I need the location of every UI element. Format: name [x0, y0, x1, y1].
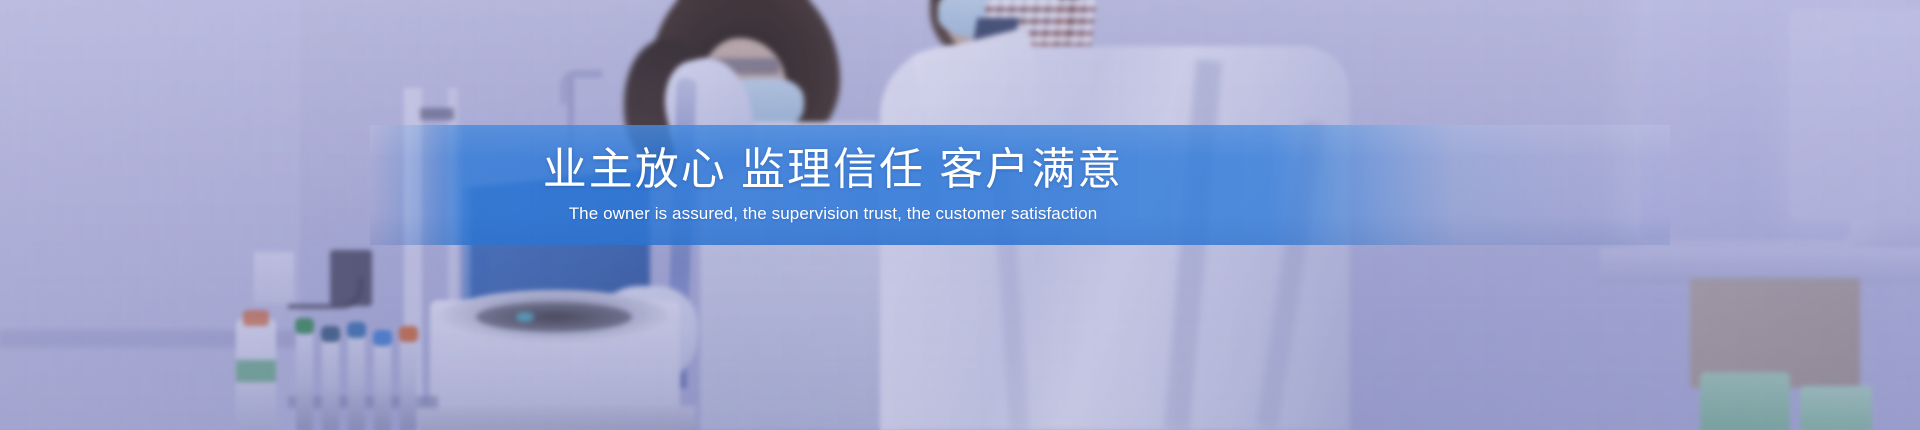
test-tube: [348, 326, 365, 430]
equipment-label: [420, 108, 454, 120]
reagent-bottle-cap: [243, 310, 269, 326]
bench-surface: [418, 406, 696, 430]
test-tube-cap: [295, 318, 314, 334]
test-tube-cap: [399, 326, 418, 342]
test-tube: [322, 330, 339, 430]
test-tube: [296, 322, 313, 430]
test-tube-cap: [347, 322, 366, 338]
power-plug: [330, 250, 372, 306]
test-tube-cap: [321, 326, 340, 342]
hero-banner: 业主放心 监理信任 客户满意 The owner is assured, the…: [0, 0, 1920, 430]
green-bottle-secondary: [1800, 386, 1872, 430]
green-bottle: [1700, 372, 1790, 430]
centrifuge-indicator: [516, 312, 534, 322]
banner-subheadline: The owner is assured, the supervision tr…: [569, 204, 1098, 224]
centrifuge-rotor: [476, 302, 632, 332]
test-tube: [374, 334, 391, 430]
faucet-head: [560, 70, 602, 104]
test-tube: [400, 330, 417, 430]
test-tube-cap: [373, 330, 392, 346]
caption-block: 业主放心 监理信任 客户满意 The owner is assured, the…: [0, 125, 1920, 245]
reagent-bottle-label: [236, 360, 276, 382]
banner-headline: 业主放心 监理信任 客户满意: [543, 145, 1123, 194]
